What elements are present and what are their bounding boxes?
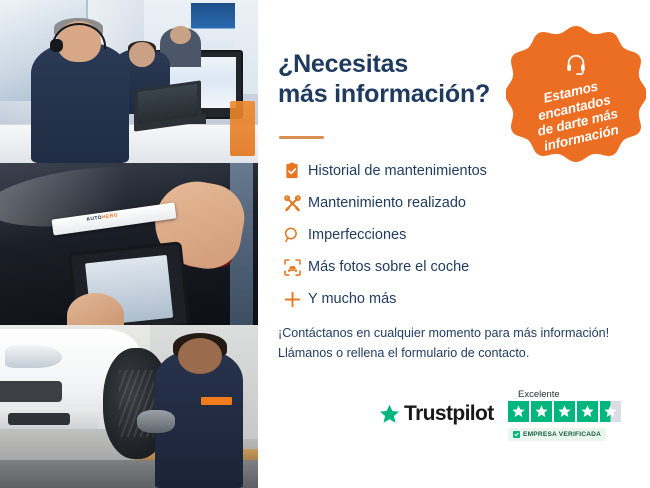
front-agent-earcup-decor <box>50 39 63 52</box>
photo-collage: AUTOHERO <box>0 0 258 488</box>
verified-company-badge: EMPRESA VERIFICADA <box>508 428 606 441</box>
list-item: Imperfecciones <box>276 219 636 251</box>
contact-copy-line-2: Llámanos o rellena el formulario de cont… <box>278 343 643 363</box>
car-scan-icon <box>276 258 308 277</box>
trustpilot-rating-label: Excelente <box>518 389 560 400</box>
star-4 <box>577 401 598 422</box>
list-item: Historial de mantenimientos <box>276 155 636 187</box>
contact-copy: ¡Contáctanos en cualquier momento para m… <box>278 323 643 364</box>
trustpilot-logo: Trustpilot <box>378 402 494 426</box>
orange-equipment-decor <box>230 101 256 156</box>
title-divider <box>279 136 324 139</box>
trustpilot-star-icon <box>378 403 401 426</box>
verified-company-label: EMPRESA VERIFICADA <box>523 431 601 438</box>
headset-icon <box>565 53 587 75</box>
background-person-head-decor <box>170 26 191 44</box>
call-center-agents-photo <box>0 0 258 163</box>
star-3 <box>554 401 575 422</box>
car-inspection-ruler-photo: AUTOHERO <box>0 163 258 326</box>
trustpilot-wordmark: Trustpilot <box>404 402 494 426</box>
magnifier-icon <box>276 226 308 244</box>
second-agent-head-decor <box>129 42 155 66</box>
star-1 <box>508 401 529 422</box>
list-item-label: Y mucho más <box>308 291 396 307</box>
feature-list: Historial de mantenimientos M <box>276 155 636 315</box>
technician-glove-decor <box>137 410 176 433</box>
list-item-label: Mantenimiento realizado <box>308 195 466 211</box>
technician-wheel-photo <box>0 325 258 488</box>
star-5-half <box>600 401 621 422</box>
grille-decor <box>0 381 62 402</box>
promo-badge: Estamos encantados de darte más informac… <box>506 22 646 162</box>
list-item-label: Imperfecciones <box>308 227 406 243</box>
headlight-decor <box>5 345 62 368</box>
plus-icon <box>276 290 308 309</box>
list-item: Mantenimiento realizado <box>276 187 636 219</box>
list-item: Más fotos sobre el coche <box>276 251 636 283</box>
air-vent-decor <box>8 413 70 424</box>
page-title: ¿Necesitas más información? <box>278 50 513 109</box>
list-item-label: Más fotos sobre el coche <box>308 259 469 275</box>
trustpilot-stars <box>508 401 621 422</box>
contact-copy-line-1: ¡Contáctanos en cualquier momento para m… <box>278 323 643 343</box>
trustpilot-widget[interactable]: Excelente Trustpilot <box>378 390 638 448</box>
verified-check-icon <box>513 431 520 438</box>
star-2 <box>531 401 552 422</box>
technician-uniform-logo-decor <box>201 397 232 405</box>
list-item-label: Historial de mantenimientos <box>308 163 487 179</box>
ruler-brand-label: AUTOHERO <box>86 213 118 223</box>
content-panel: ¿Necesitas más información? Estamos enca… <box>258 0 650 488</box>
technician-head-decor <box>178 338 222 374</box>
list-item: Y mucho más <box>276 283 636 315</box>
page-title-line-2: más información? <box>278 80 513 110</box>
clipboard-check-icon <box>276 162 308 180</box>
page-title-line-1: ¿Necesitas <box>278 50 513 80</box>
tools-cross-icon <box>276 194 308 213</box>
promo-card: AUTOHERO ¿Necesitas más inform <box>0 0 650 488</box>
